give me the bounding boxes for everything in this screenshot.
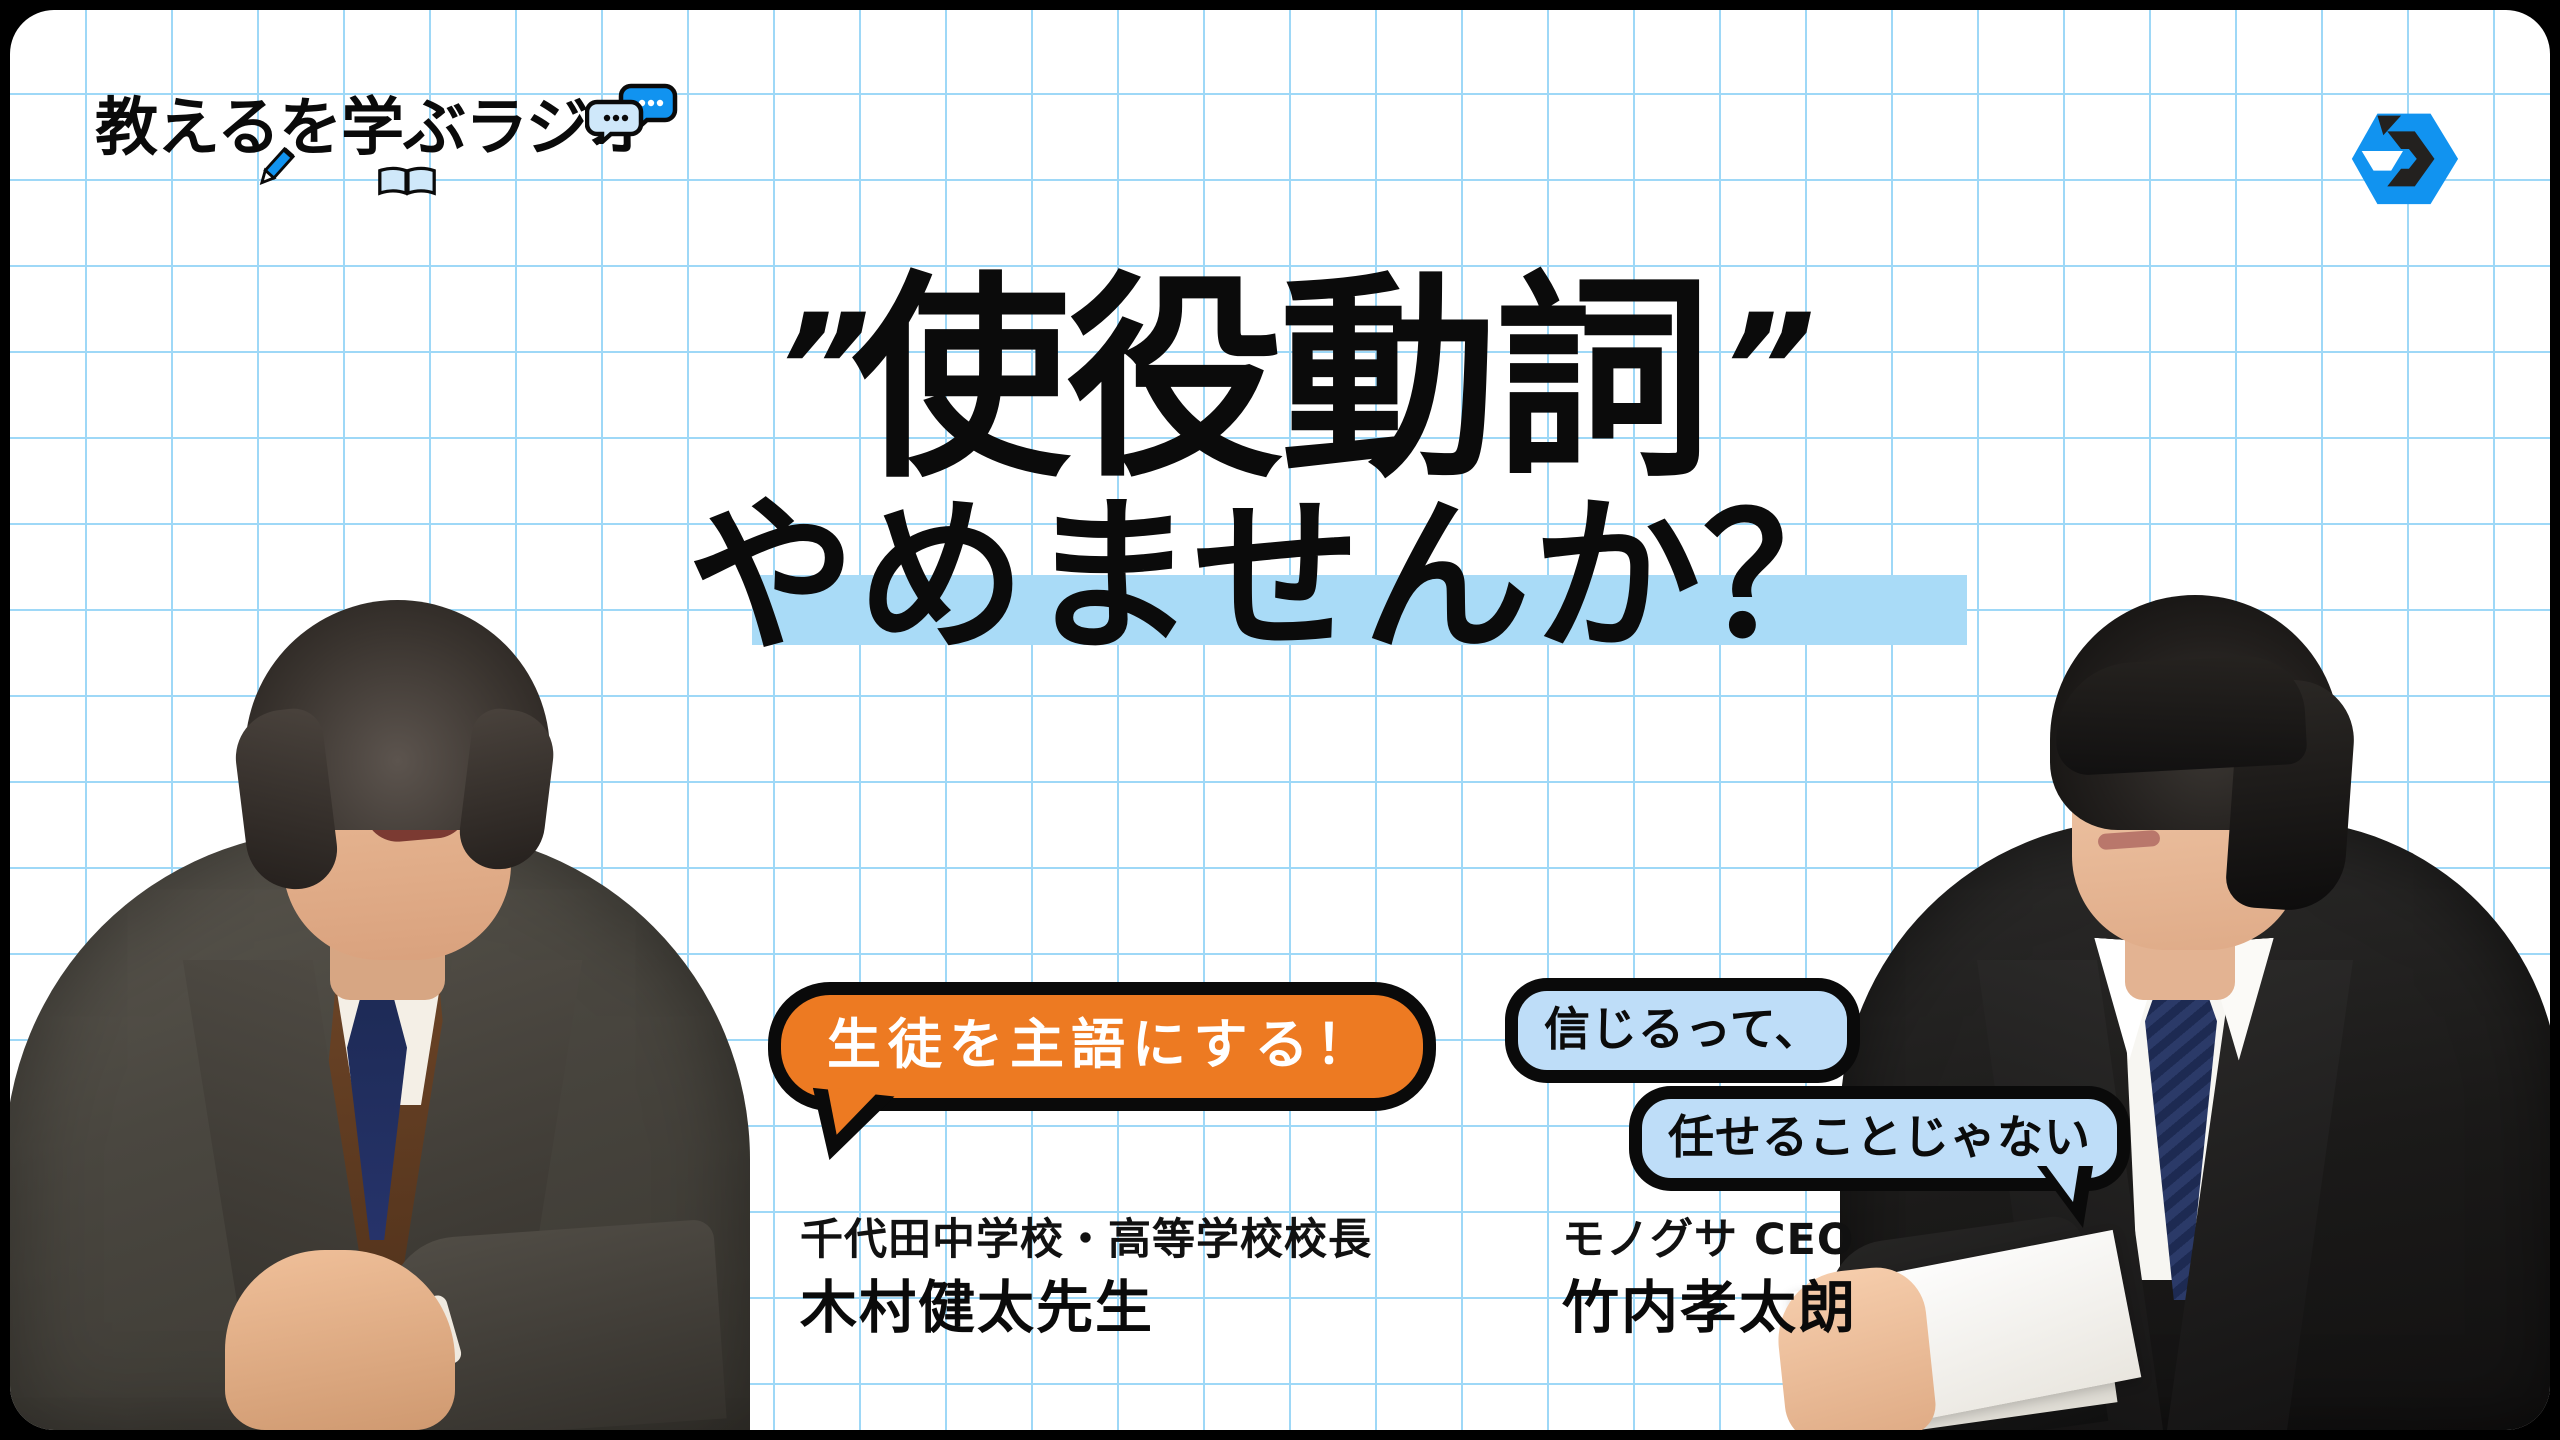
bubble-blue-text-1: 信じるって、 — [1544, 1003, 1821, 1056]
speech-bubble-orange: 生徒を主語にする！ — [768, 982, 1436, 1111]
bubble-orange-text: 生徒を主語にする！ — [827, 1017, 1377, 1074]
credit-role: 千代田中学校・高等学校校長 — [800, 1215, 1372, 1267]
credit-name: 竹内孝太朗 — [1562, 1273, 1857, 1344]
show-title: 教えるを学ぶラジオ — [95, 96, 650, 159]
monoxer-logo-icon — [2344, 92, 2462, 210]
bubble-tail-fill — [823, 1087, 878, 1138]
show-logo: 教えるを学ぶラジオ — [95, 96, 650, 159]
host-portrait-right — [1840, 370, 2550, 1430]
thumbnail-root: 教えるを学ぶラジオ — [0, 0, 2560, 1440]
bubble-body: 生徒を主語にする！ — [768, 982, 1436, 1111]
speech-bubbles-icon — [585, 82, 681, 144]
speech-bubble-blue: 信じるって、 任せることじゃない — [1505, 978, 2155, 1193]
bubble-blue-text-2: 任せることじゃない — [1668, 1111, 2091, 1164]
guest-portrait-left — [10, 370, 755, 1430]
thumbnail-card: 教えるを学ぶラジオ — [10, 10, 2550, 1430]
bubble-tail-fill — [2045, 1164, 2079, 1202]
bubble-blue-upper: 信じるって、 — [1505, 978, 1860, 1083]
credit-name: 木村健太先生 — [800, 1273, 1372, 1344]
bubble-blue-lower: 任せることじゃない — [1629, 1086, 2130, 1191]
credit-role: モノグサ CEO — [1562, 1215, 1857, 1267]
credit-host-right: モノグサ CEO 竹内孝太朗 — [1562, 1215, 1857, 1344]
hair-side-right — [456, 705, 559, 874]
open-book-icon — [376, 166, 438, 196]
pencil-icon — [253, 144, 299, 190]
title-highlight-bar — [752, 575, 1967, 645]
credit-guest-left: 千代田中学校・高等学校校長 木村健太先生 — [800, 1215, 1372, 1344]
